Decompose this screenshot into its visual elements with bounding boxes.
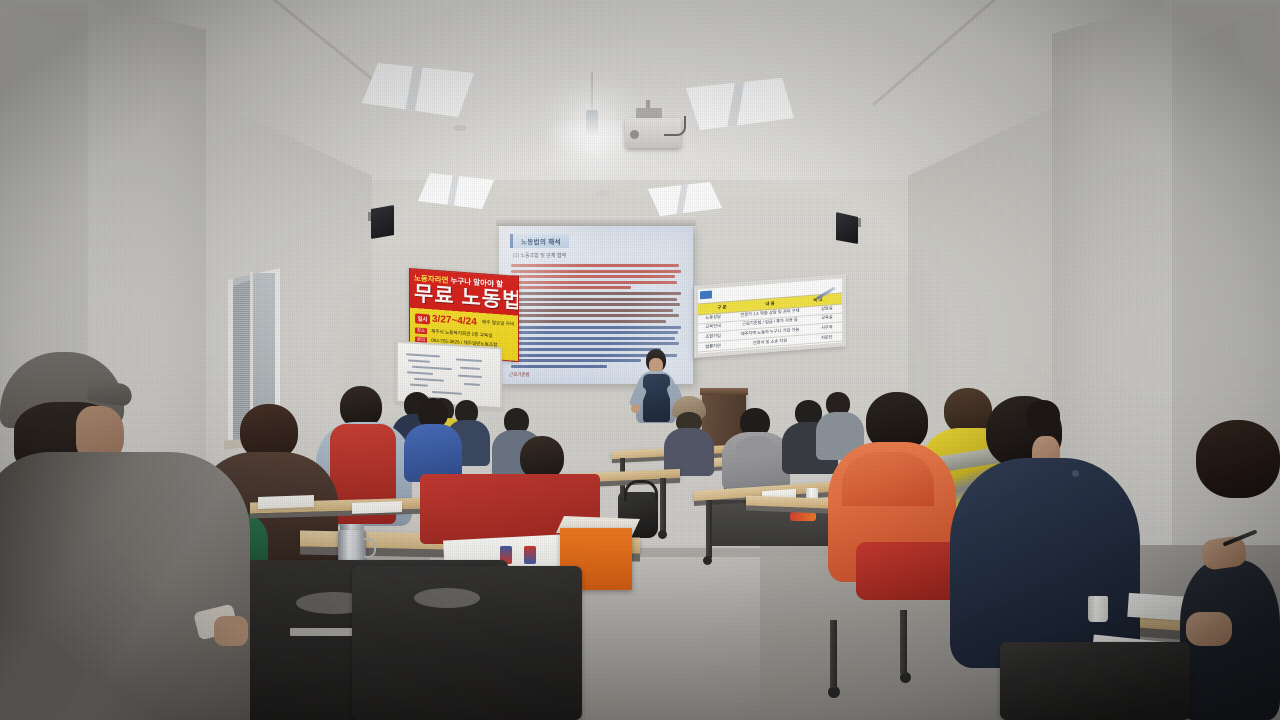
pendant-light-bulb-icon xyxy=(586,110,598,136)
whiteboard-handwriting xyxy=(458,375,482,378)
desk-leg xyxy=(660,478,666,532)
banner-note: 매주 월요일 저녁 xyxy=(482,319,514,327)
whiteboard-handwriting xyxy=(407,371,433,374)
whiteboard-handwriting xyxy=(464,383,480,386)
lecturer-left-hand xyxy=(631,404,640,413)
smoke-detector-icon xyxy=(453,125,467,131)
notice-cell: 법률지원 xyxy=(698,342,728,350)
podium-top xyxy=(700,388,748,395)
desk-caster xyxy=(703,556,712,565)
chair-handle-slot xyxy=(414,588,480,608)
projector-lens xyxy=(630,130,639,139)
notice-cell: 노동상담 xyxy=(698,313,728,321)
whiteboard-handwriting xyxy=(456,358,482,361)
whiteboard-handwriting xyxy=(408,359,430,362)
lecturer-vest xyxy=(643,374,670,422)
desk-leg xyxy=(830,620,837,688)
wall-speaker-left-icon xyxy=(371,205,394,239)
pendant-rod xyxy=(591,72,593,112)
notice-cell: 교육실 xyxy=(812,314,842,322)
jacket-button xyxy=(1072,470,1079,477)
banner-date-badge: 일시 xyxy=(415,313,430,324)
notice-cell: 자문단 xyxy=(812,333,842,341)
notice-board-tag xyxy=(700,290,712,299)
classroom-photograph: 노동법의 해석 (1) 노동조합 및 단체 협약 근로기준법 노동자라면 누구나… xyxy=(0,0,1280,720)
chair-label xyxy=(290,628,354,636)
hand xyxy=(1186,612,1232,646)
wall-notice-board: 구 분내 용비 고 노동상담전문가 1:1 맞춤 상담 및 권리 구제상담실교육… xyxy=(694,274,846,358)
banner-dates: 3/27~4/24 xyxy=(432,314,477,328)
projection-screen-case xyxy=(496,216,696,226)
whiteboard-handwriting xyxy=(412,366,452,370)
desk-leg xyxy=(900,610,907,674)
notice-cell: 사무국 xyxy=(812,323,842,331)
notice-cell: 상담실 xyxy=(812,304,842,312)
whiteboard-handwriting xyxy=(414,378,444,381)
classroom-chair xyxy=(1000,642,1190,720)
handbag-strap xyxy=(624,480,658,501)
thermos-handle xyxy=(364,538,376,558)
notice-cell: 교육안내 xyxy=(698,323,728,331)
whiteboard-handwriting xyxy=(432,391,462,394)
paper-handout xyxy=(258,495,314,509)
paper-cup xyxy=(1088,596,1108,622)
notice-cell: 조합가입 xyxy=(698,332,728,340)
whiteboard-handwriting xyxy=(460,367,480,370)
smoke-detector-icon xyxy=(596,190,610,196)
hand xyxy=(214,616,248,646)
projector-cable xyxy=(664,116,686,136)
whiteboard-handwriting xyxy=(410,384,428,387)
whiteboard-handwriting xyxy=(406,353,440,357)
paper-handout xyxy=(352,501,402,514)
wall-speaker-right-icon xyxy=(836,212,858,244)
jacket-hood xyxy=(842,452,934,506)
banner-venue-chip: 장소 xyxy=(415,327,427,334)
printed-graphic xyxy=(524,546,536,564)
desk-caster xyxy=(658,530,667,539)
red-object-on-desk xyxy=(790,512,816,521)
grey-sweater xyxy=(0,452,250,720)
